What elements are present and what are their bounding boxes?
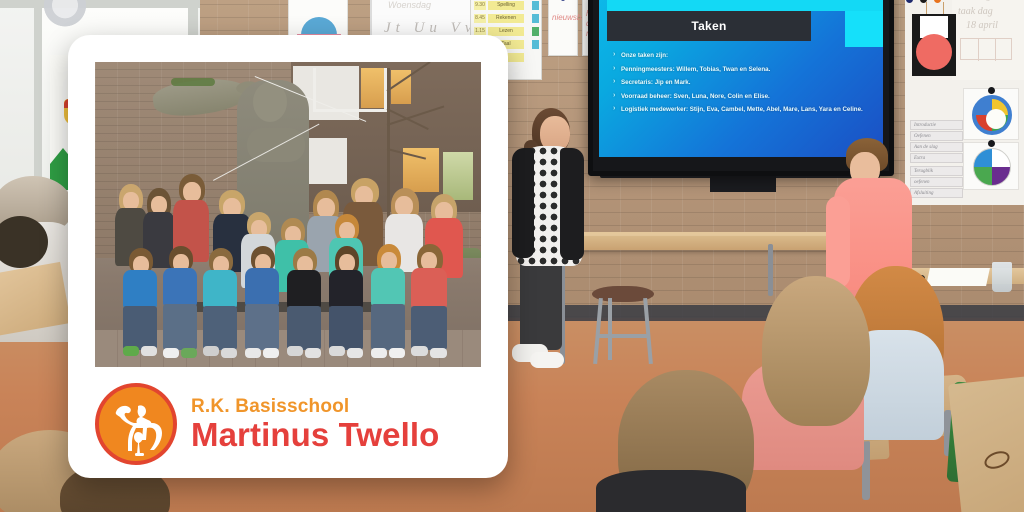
slide-accent-block xyxy=(845,11,883,47)
tinsel-decoration xyxy=(42,0,88,30)
jeans-shape xyxy=(287,306,321,350)
jeans-shape xyxy=(329,306,363,350)
face-shape xyxy=(317,198,335,218)
hair-shape xyxy=(762,276,870,426)
slide-bullet-list: Onze taken zijn: Penningmeesters: Willem… xyxy=(613,51,869,119)
schedule-subject: Spelling xyxy=(488,1,524,10)
school-info-card: R.K. Basisschool Martinus Twello xyxy=(68,35,508,478)
shoe-shape xyxy=(141,346,157,356)
lesson-phase-label: Afsluiting xyxy=(910,188,963,198)
shoe-shape xyxy=(347,348,363,358)
school-subtitle: R.K. Basisschool xyxy=(191,396,439,418)
arm-shape xyxy=(826,196,850,288)
schedule-tab xyxy=(532,40,539,49)
shoe-shape xyxy=(163,348,179,358)
wheel-marker-dot xyxy=(988,140,995,147)
photo-window xyxy=(443,152,473,200)
face-shape xyxy=(395,196,413,216)
lesson-phase-label: Aan de slag xyxy=(910,142,963,152)
handwriting-date: 18 april xyxy=(966,20,998,31)
shoe-shape xyxy=(430,348,447,358)
wheel-marker-dot xyxy=(988,87,995,94)
schedule-row: 9.30 Spelling xyxy=(474,1,524,10)
blue-shirt xyxy=(163,268,197,306)
schedule-tab xyxy=(532,14,539,23)
jeans-shape xyxy=(123,306,157,350)
lesson-phase-label: Introductie xyxy=(910,120,963,130)
slide-top-band xyxy=(607,0,883,11)
screenshot-stage: Woensdag Jt Uu Vv Ww 9.30 Spelling 8.45 … xyxy=(0,0,1024,512)
schedule-row: 8.45 Rekenen xyxy=(474,14,524,23)
jeans-shape xyxy=(371,304,405,350)
stool-leg xyxy=(593,298,603,364)
dome-shape xyxy=(301,17,337,35)
stool-footrest xyxy=(596,334,650,338)
slide-title-bar: Taken xyxy=(607,11,811,41)
handwriting-line: taak dag xyxy=(958,6,993,17)
shoe-shape xyxy=(371,348,387,358)
class-group-photo xyxy=(95,62,481,367)
cyan-shirt xyxy=(203,270,237,308)
school-logo: R.K. Basisschool Martinus Twello xyxy=(95,383,439,465)
shoe-shape xyxy=(411,346,428,356)
teal-shirt xyxy=(371,268,405,306)
table-leg xyxy=(768,244,773,296)
shoe-shape xyxy=(123,346,139,356)
shoe-shape xyxy=(305,348,321,358)
schedule-time: 9.30 xyxy=(474,1,486,10)
presentation-slide: Taken Onze taken zijn: Penningmeesters: … xyxy=(599,0,883,157)
slide-bullet-item: Voorraad beheer: Sven, Luna, Nore, Colin… xyxy=(613,92,869,102)
whiteboard-top-text: Woensdag xyxy=(388,0,431,10)
shoe-shape xyxy=(287,346,303,356)
moss-patch xyxy=(171,78,215,86)
medal-display xyxy=(912,14,956,76)
drinking-glass xyxy=(992,262,1012,292)
black-shirt xyxy=(287,270,321,308)
tv-stand xyxy=(710,174,776,192)
blue-shirt xyxy=(123,270,157,308)
quadrant-colour-wheel-card xyxy=(963,142,1019,190)
slide-bullet-item: Penningmeesters: Willem, Tobias, Twan en… xyxy=(613,65,869,75)
long-table xyxy=(555,236,855,250)
lesson-phase-label: oefenen xyxy=(910,177,963,187)
wall-skirting xyxy=(490,305,1024,321)
paper-sheet xyxy=(926,268,990,286)
foreground-desk xyxy=(948,372,1024,512)
schedule-tab xyxy=(532,1,539,10)
pin-icon xyxy=(906,0,913,3)
jacket-shape xyxy=(596,470,746,512)
school-title: Martinus Twello xyxy=(191,418,439,452)
schedule-subject: Rekenen xyxy=(488,14,524,23)
colour-wheel-icon xyxy=(972,95,1012,135)
pin-icon xyxy=(561,0,565,1)
schedule-subject: Lezen xyxy=(488,27,524,36)
schedule-tab xyxy=(532,27,539,36)
slide-bullet-item: Logistiek medewerker: Stijn, Eva, Cambel… xyxy=(613,105,869,115)
sneaker-shape xyxy=(530,352,564,368)
lesson-phase-label: Extra xyxy=(910,153,963,163)
lesson-phase-label: Terugblik xyxy=(910,166,963,176)
stool-leg xyxy=(608,298,612,360)
handwriting-board: Woensdag taak dag 18 april xyxy=(952,0,1024,80)
colour-wheel-icon xyxy=(973,148,1011,186)
jeans-shape xyxy=(163,304,197,350)
handwriting-top: Woensdag xyxy=(958,0,991,1)
shoe-shape xyxy=(263,348,279,358)
school-name-block: R.K. Basisschool Martinus Twello xyxy=(191,396,439,452)
slide-bullet-item: Secretaris: Jip en Mark. xyxy=(613,78,869,88)
face-shape xyxy=(183,182,201,202)
slide-title: Taken xyxy=(691,19,726,33)
jeans-shape xyxy=(411,306,447,350)
cardigan-left-sleeve xyxy=(512,148,534,258)
note-card-left: nieuwsbrief xyxy=(548,0,578,56)
wooden-stool[interactable] xyxy=(592,286,654,364)
shoe-shape xyxy=(329,346,345,356)
shoe-shape xyxy=(221,348,237,358)
saint-martin-on-horseback-icon xyxy=(95,383,177,465)
shoe-shape xyxy=(245,348,261,358)
blue-shirt xyxy=(245,268,279,306)
shoe-shape xyxy=(389,348,405,358)
slide-bullet-item: Onze taken zijn: xyxy=(613,51,869,61)
handwriting-grid xyxy=(960,38,1012,60)
medal-disc xyxy=(916,34,952,70)
jeans-shape xyxy=(203,306,237,350)
shoe-shape xyxy=(203,346,219,356)
stool-leg xyxy=(643,298,653,364)
behaviour-colour-wheel-card xyxy=(963,88,1019,140)
legs-shape xyxy=(520,258,562,350)
shoe-shape xyxy=(181,348,197,358)
window-frame-top xyxy=(0,0,200,8)
cardigan-right-sleeve xyxy=(560,148,584,260)
red-shirt xyxy=(411,268,447,308)
dark-shirt xyxy=(329,270,363,308)
schedule-time: 8.45 xyxy=(474,14,486,23)
lesson-phase-label: Oefenen xyxy=(910,131,963,141)
jeans-shape xyxy=(245,304,279,350)
